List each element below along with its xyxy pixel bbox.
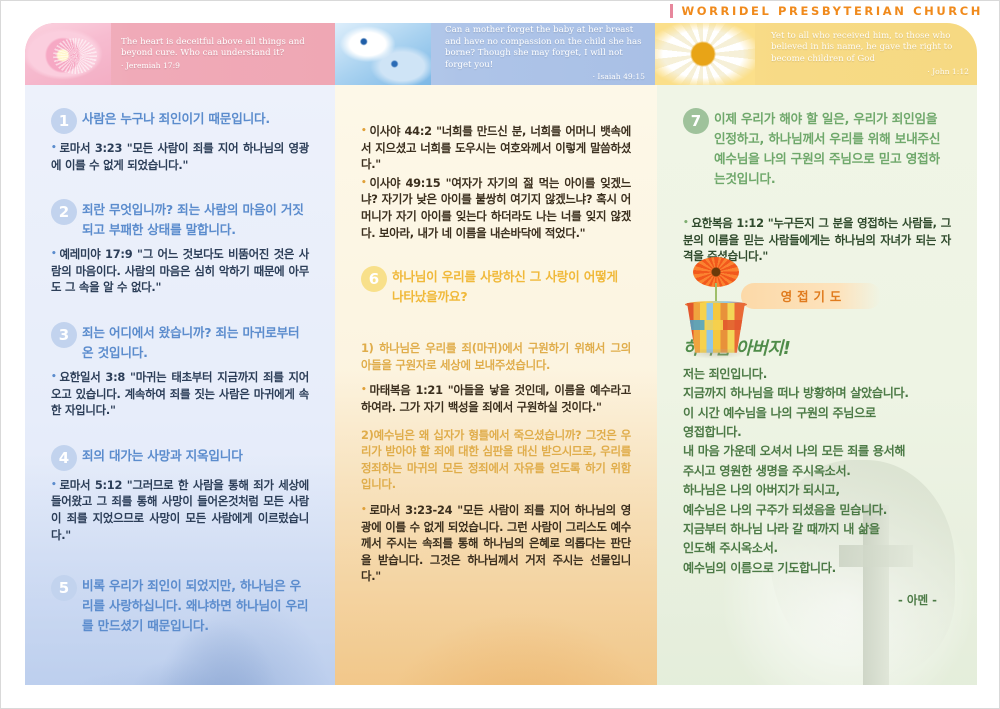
- brand-lockup: WORRIDEL PRESBYTERIAN CHURCH: [670, 4, 983, 18]
- striped-pot-icon: [687, 303, 745, 353]
- right-column: 7 이제 우리가 해야 할 일은, 우리가 죄인임을 인정하고, 하나님께서 우…: [657, 85, 977, 685]
- section-4: 4 죄의 대가는 사망과 지옥입니다 로마서 5:12 "그러므로 한 사람을 …: [51, 446, 309, 543]
- section-title: 죄는 어디에서 왔습니까? 죄는 마귀로부터 온 것입니다.: [82, 323, 309, 363]
- section-number-badge: 7: [683, 108, 709, 134]
- section-title: 죄의 대가는 사망과 지옥입니다: [82, 446, 243, 466]
- prayer-line: 하나님은 나의 아버지가 되시고,: [683, 481, 951, 500]
- section-title: 하나님이 우리를 사랑하신 그 사랑이 어떻게 나타났을까요?: [392, 267, 631, 307]
- pot-shadow: [685, 349, 747, 359]
- section-body: 요한일서 3:8 "마귀는 태초부터 지금까지 죄를 지어오고 있습니다. 계속…: [51, 369, 309, 419]
- section-body: 로마서 3:23 "모든 사람이 죄를 지어 하나님의 영광에 이를 수 없게 …: [51, 140, 309, 173]
- prayer-line: 영접합니다.: [683, 423, 951, 442]
- verse-matthew-1-21: 마태복음 1:21 "아들을 낳을 것인데, 이름을 예수라고 하여라. 그가 …: [361, 382, 631, 415]
- section-number-badge: 1: [51, 108, 77, 134]
- banner-verse-text: Can a mother forget the baby at her brea…: [445, 25, 645, 83]
- section-body: 로마서 5:12 "그러므로 한 사람을 통해 죄가 세상에 들어왔고 그 죄를…: [51, 477, 309, 543]
- prayer-line: 예수님의 이름으로 기도합니다.: [683, 559, 951, 578]
- prayer-line: 이 시간 예수님을 나의 구원의 주님으로: [683, 404, 951, 423]
- prayer-line: 지금부터 하나님 나라 갈 때까지 내 삶을: [683, 520, 951, 539]
- content-columns: 1 사람은 누구나 죄인이기 때문입니다. 로마서 3:23 "모든 사람이 죄…: [25, 85, 977, 685]
- prayer-chip-label: 영접기도: [741, 283, 881, 309]
- left-column: 1 사람은 누구나 죄인이기 때문입니다. 로마서 3:23 "모든 사람이 죄…: [25, 85, 335, 685]
- flower-pot-art: [679, 257, 757, 361]
- section-1: 1 사람은 누구나 죄인이기 때문입니다. 로마서 3:23 "모든 사람이 죄…: [51, 109, 309, 173]
- banner-jeremiah: The heart is deceitful above all things …: [25, 23, 335, 85]
- banner-isaiah: Can a mother forget the baby at her brea…: [335, 23, 655, 85]
- prayer-line: 저는 죄인입니다.: [683, 365, 951, 384]
- blue-hydrangea-flower-icon: [335, 23, 431, 85]
- banner-verse-body: Can a mother forget the baby at her brea…: [445, 25, 642, 70]
- verse-isaiah-44-2: 이사야 44:2 "너희를 만드신 분, 너희를 어머니 뱃속에서 지으셨고 너…: [361, 123, 631, 173]
- prayer-line: 주시고 영원한 생명을 주시옥소서.: [683, 462, 951, 481]
- verse-banner-strip: The heart is deceitful above all things …: [25, 23, 977, 85]
- section-2: 2 죄란 무엇입니까? 죄는 사람의 마음이 거짓되고 부패한 상태를 말합니다…: [51, 200, 309, 296]
- verse-romans-3-23-24: 로마서 3:23-24 "모든 사람이 죄를 지어 하나님의 영광에 이를 수 …: [361, 502, 631, 585]
- prayer-line: 지금까지 하나님을 떠나 방황하며 살았습니다.: [683, 384, 951, 403]
- banner-verse-body: The heart is deceitful above all things …: [121, 37, 305, 59]
- section-number-badge: 2: [51, 199, 77, 225]
- banner-verse-text: Yet to all who received him, to those wh…: [771, 31, 969, 77]
- masthead: WORRIDEL PRESBYTERIAN CHURCH: [1, 1, 1000, 23]
- prayer-amen: - 아멘 -: [683, 592, 951, 608]
- section-3: 3 죄는 어디에서 왔습니까? 죄는 마귀로부터 온 것입니다. 요한일서 3:…: [51, 323, 309, 419]
- banner-verse-text: The heart is deceitful above all things …: [121, 37, 321, 72]
- section-5: 5 비록 우리가 죄인이 되었지만, 하나님은 우리를 사랑하십니다. 왜냐하면…: [51, 576, 309, 636]
- section-6-point-1: 1) 하나님은 우리를 죄(마귀)에서 구원하기 위해서 그의 아들을 구원자로…: [361, 340, 631, 373]
- section-title: 비록 우리가 죄인이 되었지만, 하나님은 우리를 사랑하십니다. 왜냐하면 하…: [82, 576, 309, 636]
- section-6-point-2: 2)예수님은 왜 십자가 형틀에서 죽으셨습니까? 그것은 우리가 받아야 할 …: [361, 427, 631, 493]
- section-body: 예레미야 17:9 "그 어느 것보다도 비뚬어진 것은 사람의 마음이다. 사…: [51, 246, 309, 296]
- banner-verse-reference: · John 1:12: [771, 66, 969, 78]
- section-number-badge: 6: [361, 266, 387, 292]
- pink-gerbera-flower-icon: [25, 23, 111, 85]
- prayer-line: 예수님은 나의 구주가 되셨음을 믿습니다.: [683, 501, 951, 520]
- section-title: 사람은 누구나 죄인이기 때문입니다.: [82, 109, 270, 129]
- white-daisy-flower-icon: [655, 23, 755, 85]
- prayer-line: 인도해 주시옥소서.: [683, 539, 951, 558]
- verse-isaiah-49-15: 이사야 49:15 "여자가 자기의 젎 먹는 아이를 잊겠느냐? 자기가 낮은…: [361, 175, 631, 241]
- brand-accent-bar-icon: [670, 4, 673, 18]
- prayer-text-block: 하나님 아버지! 저는 죄인입니다. 지금까지 하나님을 떠나 방황하며 살았습…: [683, 335, 951, 608]
- banner-john: Yet to all who received him, to those wh…: [655, 23, 977, 85]
- brochure-page: WORRIDEL PRESBYTERIAN CHURCH The heart i…: [0, 0, 1000, 709]
- banner-verse-reference: · Isaiah 49:15: [445, 71, 645, 83]
- section-title: 이제 우리가 해야 할 일은, 우리가 죄인임을 인정하고, 하나님께서 우리를…: [714, 109, 951, 189]
- section-number-badge: 3: [51, 322, 77, 348]
- section-6: 6 하나님이 우리를 사랑하신 그 사랑이 어떻게 나타났을까요?: [361, 267, 631, 307]
- prayer-block: 영접기도 하나님 아버지! 저는 죄인입니다. 지금까지 하나님을 떠나 방황하…: [683, 283, 951, 608]
- section-number-badge: 4: [51, 445, 77, 471]
- banner-verse-body: Yet to all who received him, to those wh…: [771, 31, 952, 64]
- section-7: 7 이제 우리가 해야 할 일은, 우리가 죄인임을 인정하고, 하나님께서 우…: [683, 109, 951, 265]
- section-title: 죄란 무엇입니까? 죄는 사람의 마음이 거짓되고 부패한 상태를 말합니다.: [82, 200, 309, 240]
- middle-column: 이사야 44:2 "너희를 만드신 분, 너희를 어머니 뱃속에서 지으셨고 너…: [335, 85, 657, 685]
- banner-verse-reference: · Jeremiah 17:9: [121, 60, 321, 72]
- church-name: WORRIDEL PRESBYTERIAN CHURCH: [681, 4, 983, 18]
- section-number-badge: 5: [51, 575, 77, 601]
- prayer-line: 내 마음 가운데 오셔서 나의 모든 죄를 용서해: [683, 442, 951, 461]
